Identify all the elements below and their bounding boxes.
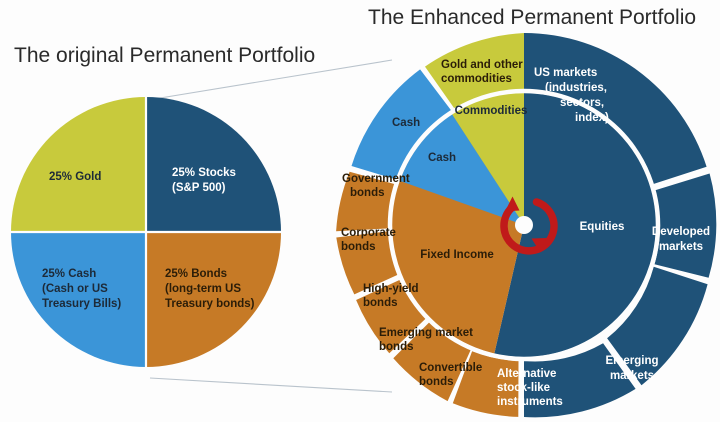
pie-label-stocks-line1: 25% Stocks — [172, 167, 236, 179]
pie-label-bonds-line1: 25% Bonds — [165, 268, 227, 280]
donut-hub — [515, 216, 533, 234]
pie-label-gold: 25% Gold — [49, 171, 101, 183]
outer-label-corporate-line1: Corporate — [341, 227, 396, 239]
outer-label-us-markets-line2: (industries, — [545, 82, 607, 94]
outer-label-em-bonds-line2: bonds — [379, 341, 414, 353]
outer-label-us-markets-line3: sectors, — [560, 97, 604, 109]
infographic-canvas: The original Permanent Portfolio The Enh… — [0, 0, 720, 422]
outer-label-us-markets-line4: index) — [575, 112, 609, 124]
outer-label-government-line2: bonds — [350, 187, 385, 199]
inner-label-cash: Cash — [428, 152, 456, 164]
outer-label-emerging-markets-line1: Emerging — [605, 355, 658, 367]
portfolio-comparison-figure: The original Permanent Portfolio The Enh… — [0, 0, 720, 422]
outer-label-developed-markets-line1: Developed — [652, 226, 710, 238]
right-panel-title: The Enhanced Permanent Portfolio — [368, 6, 696, 29]
inner-label-fixed-income: Fixed Income — [420, 249, 494, 261]
outer-label-high-yield-line1: High-yield — [363, 283, 419, 295]
outer-label-us-markets-line1: US markets — [534, 67, 597, 79]
original-permanent-portfolio-pie: 25% Gold 25% Stocks (S&P 500) 25% Cash (… — [10, 96, 282, 368]
pie-label-cash-line2: (Cash or US — [42, 283, 108, 295]
pie-label-stocks-line2: (S&P 500) — [172, 182, 226, 194]
outer-label-emerging-markets-line2: markets — [610, 370, 654, 382]
pie-label-bonds-line3: Treasury bonds) — [165, 298, 255, 310]
outer-label-em-bonds-line1: Emerging market — [379, 327, 473, 339]
outer-label-cash: Cash — [392, 117, 420, 129]
left-panel-title: The original Permanent Portfolio — [14, 44, 315, 67]
outer-label-alternative-line3: instruments — [497, 396, 563, 408]
outer-label-alternative-line1: Alternative — [497, 368, 556, 380]
pie-label-cash-line1: 25% Cash — [42, 268, 96, 280]
inner-label-equities: Equities — [580, 221, 625, 233]
pie-label-bonds-line2: (long-term US — [165, 283, 241, 295]
outer-label-high-yield-line2: bonds — [363, 297, 398, 309]
outer-label-convertible-line1: Convertible — [419, 362, 482, 374]
outer-label-gold-line1: Gold and other — [441, 59, 523, 71]
outer-label-convertible-line2: bonds — [419, 376, 454, 388]
inner-label-commodities: Commodities — [455, 105, 528, 117]
pie-label-cash-line3: Treasury Bills) — [42, 298, 121, 310]
outer-label-alternative-line2: stock-like — [497, 382, 550, 394]
outer-label-developed-markets-line2: markets — [659, 241, 703, 253]
outer-label-corporate-line2: bonds — [341, 241, 376, 253]
outer-label-government-line1: Government — [342, 173, 410, 185]
outer-label-gold-line2: commodities — [441, 73, 512, 85]
